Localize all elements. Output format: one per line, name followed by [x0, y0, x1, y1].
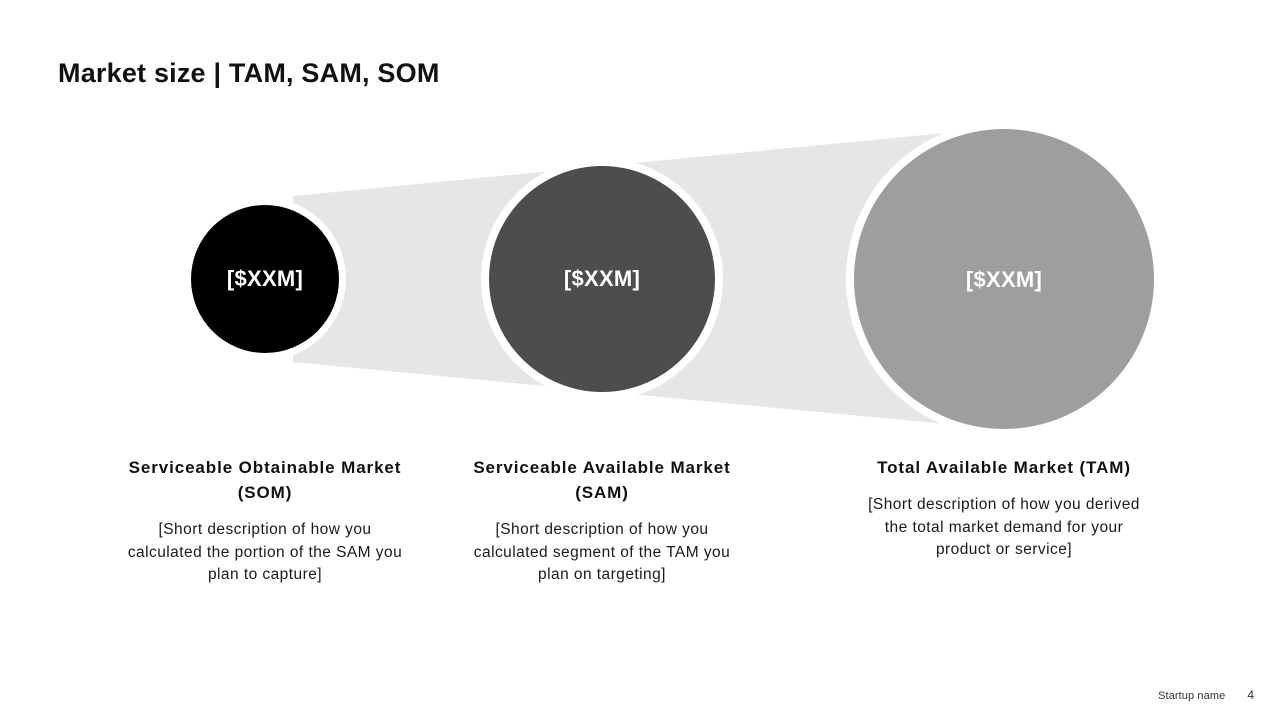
- slide-page-number: 4: [1247, 688, 1254, 702]
- sam-circle[interactable]: [489, 166, 715, 392]
- caption-column-tam: Total Available Market (TAM) [Short desc…: [864, 455, 1144, 562]
- sam-caption-description: [Short description of how you calculated…: [462, 519, 742, 587]
- funnel-graphic: [0, 0, 1280, 450]
- tam-caption-title: Total Available Market (TAM): [864, 455, 1144, 480]
- som-caption-description: [Short description of how you calculated…: [125, 519, 405, 587]
- tam-circle[interactable]: [854, 129, 1154, 429]
- footer-brand-label: Startup name: [1158, 690, 1225, 702]
- som-caption-title: Serviceable Obtainable Market (SOM): [125, 455, 405, 505]
- sam-caption-title: Serviceable Available Market (SAM): [462, 455, 742, 505]
- slide-footer: Startup name 4: [1158, 688, 1254, 702]
- caption-row: Serviceable Obtainable Market (SOM) [Sho…: [0, 455, 1280, 625]
- tam-sam-som-diagram: [$XXM] [$XXM] [$XXM]: [0, 0, 1280, 450]
- caption-column-som: Serviceable Obtainable Market (SOM) [Sho…: [125, 455, 405, 587]
- som-circle[interactable]: [191, 205, 339, 353]
- caption-column-sam: Serviceable Available Market (SAM) [Shor…: [462, 455, 742, 587]
- tam-caption-description: [Short description of how you derived th…: [864, 494, 1144, 562]
